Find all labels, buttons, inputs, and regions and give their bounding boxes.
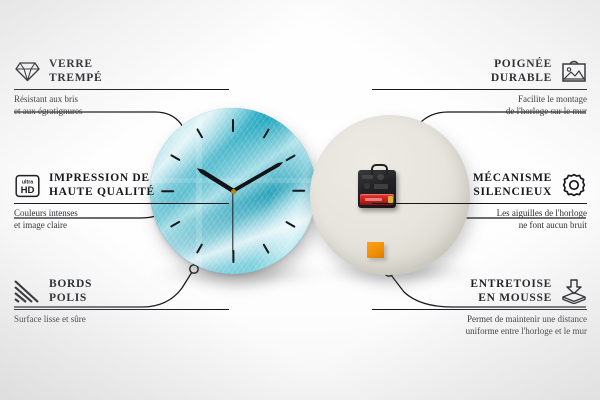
feature-description: Résistant aux bris et aux égratignures xyxy=(14,94,229,117)
feature-title: VERRE TREMPÉ xyxy=(49,58,102,85)
feature-title: MÉCANISME SILENCIEUX xyxy=(473,172,552,199)
feature-title: POIGNÉE DURABLE xyxy=(491,58,552,85)
feature-description: Facilite le montage de l'horloge sur le … xyxy=(372,94,587,117)
gear-icon xyxy=(561,173,587,199)
foam-spacer xyxy=(367,242,384,258)
feature-header: ultra HD IMPRESSION DE HAUTE QUALITÉ xyxy=(14,172,229,199)
feature-entretoise-en-mousse: ENTRETOISE EN MOUSSE Permet de maintenir… xyxy=(372,278,587,337)
feature-header: POIGNÉE DURABLE xyxy=(372,58,587,85)
infographic-canvas: VERRE TREMPÉ Résistant aux bris et aux é… xyxy=(0,0,600,400)
feature-divider xyxy=(14,203,229,204)
feature-title: IMPRESSION DE HAUTE QUALITÉ xyxy=(49,172,155,199)
feature-mecanisme-silencieux: MÉCANISME SILENCIEUX Les aiguilles de l'… xyxy=(372,172,587,231)
feature-divider xyxy=(372,203,587,204)
feature-title: ENTRETOISE EN MOUSSE xyxy=(470,278,552,305)
press-down-layers-icon xyxy=(561,279,587,305)
feature-header: BORDS POLIS xyxy=(14,278,229,305)
feature-verre-trempe: VERRE TREMPÉ Résistant aux bris et aux é… xyxy=(14,58,229,117)
feature-header: ENTRETOISE EN MOUSSE xyxy=(372,278,587,305)
feature-impression-haute-qualite: ultra HD IMPRESSION DE HAUTE QUALITÉ Cou… xyxy=(14,172,229,231)
svg-text:HD: HD xyxy=(20,185,34,196)
feature-description: Surface lisse et sûre xyxy=(14,314,229,326)
feature-poignee-durable: POIGNÉE DURABLE Facilite le montage de l… xyxy=(372,58,587,117)
clock-center-cap xyxy=(231,189,236,194)
feature-title: BORDS POLIS xyxy=(49,278,92,305)
picture-frame-icon xyxy=(561,59,587,85)
feature-divider xyxy=(372,309,587,310)
feature-divider xyxy=(14,309,229,310)
feature-header: MÉCANISME SILENCIEUX xyxy=(372,172,587,199)
feature-bords-polis: BORDS POLIS Surface lisse et sûre xyxy=(14,278,229,326)
feature-header: VERRE TREMPÉ xyxy=(14,58,229,85)
ultra-hd-icon: ultra HD xyxy=(14,173,40,199)
mechanism-detail-3 xyxy=(364,183,370,189)
diamond-icon xyxy=(14,59,40,85)
feature-divider xyxy=(14,89,229,90)
feature-description: Permet de maintenir une distance uniform… xyxy=(372,314,587,337)
feature-divider xyxy=(372,89,587,90)
diagonal-lines-icon xyxy=(14,279,40,305)
feature-description: Couleurs intenses et image claire xyxy=(14,208,229,231)
feature-description: Les aiguilles de l'horloge ne font aucun… xyxy=(372,208,587,231)
